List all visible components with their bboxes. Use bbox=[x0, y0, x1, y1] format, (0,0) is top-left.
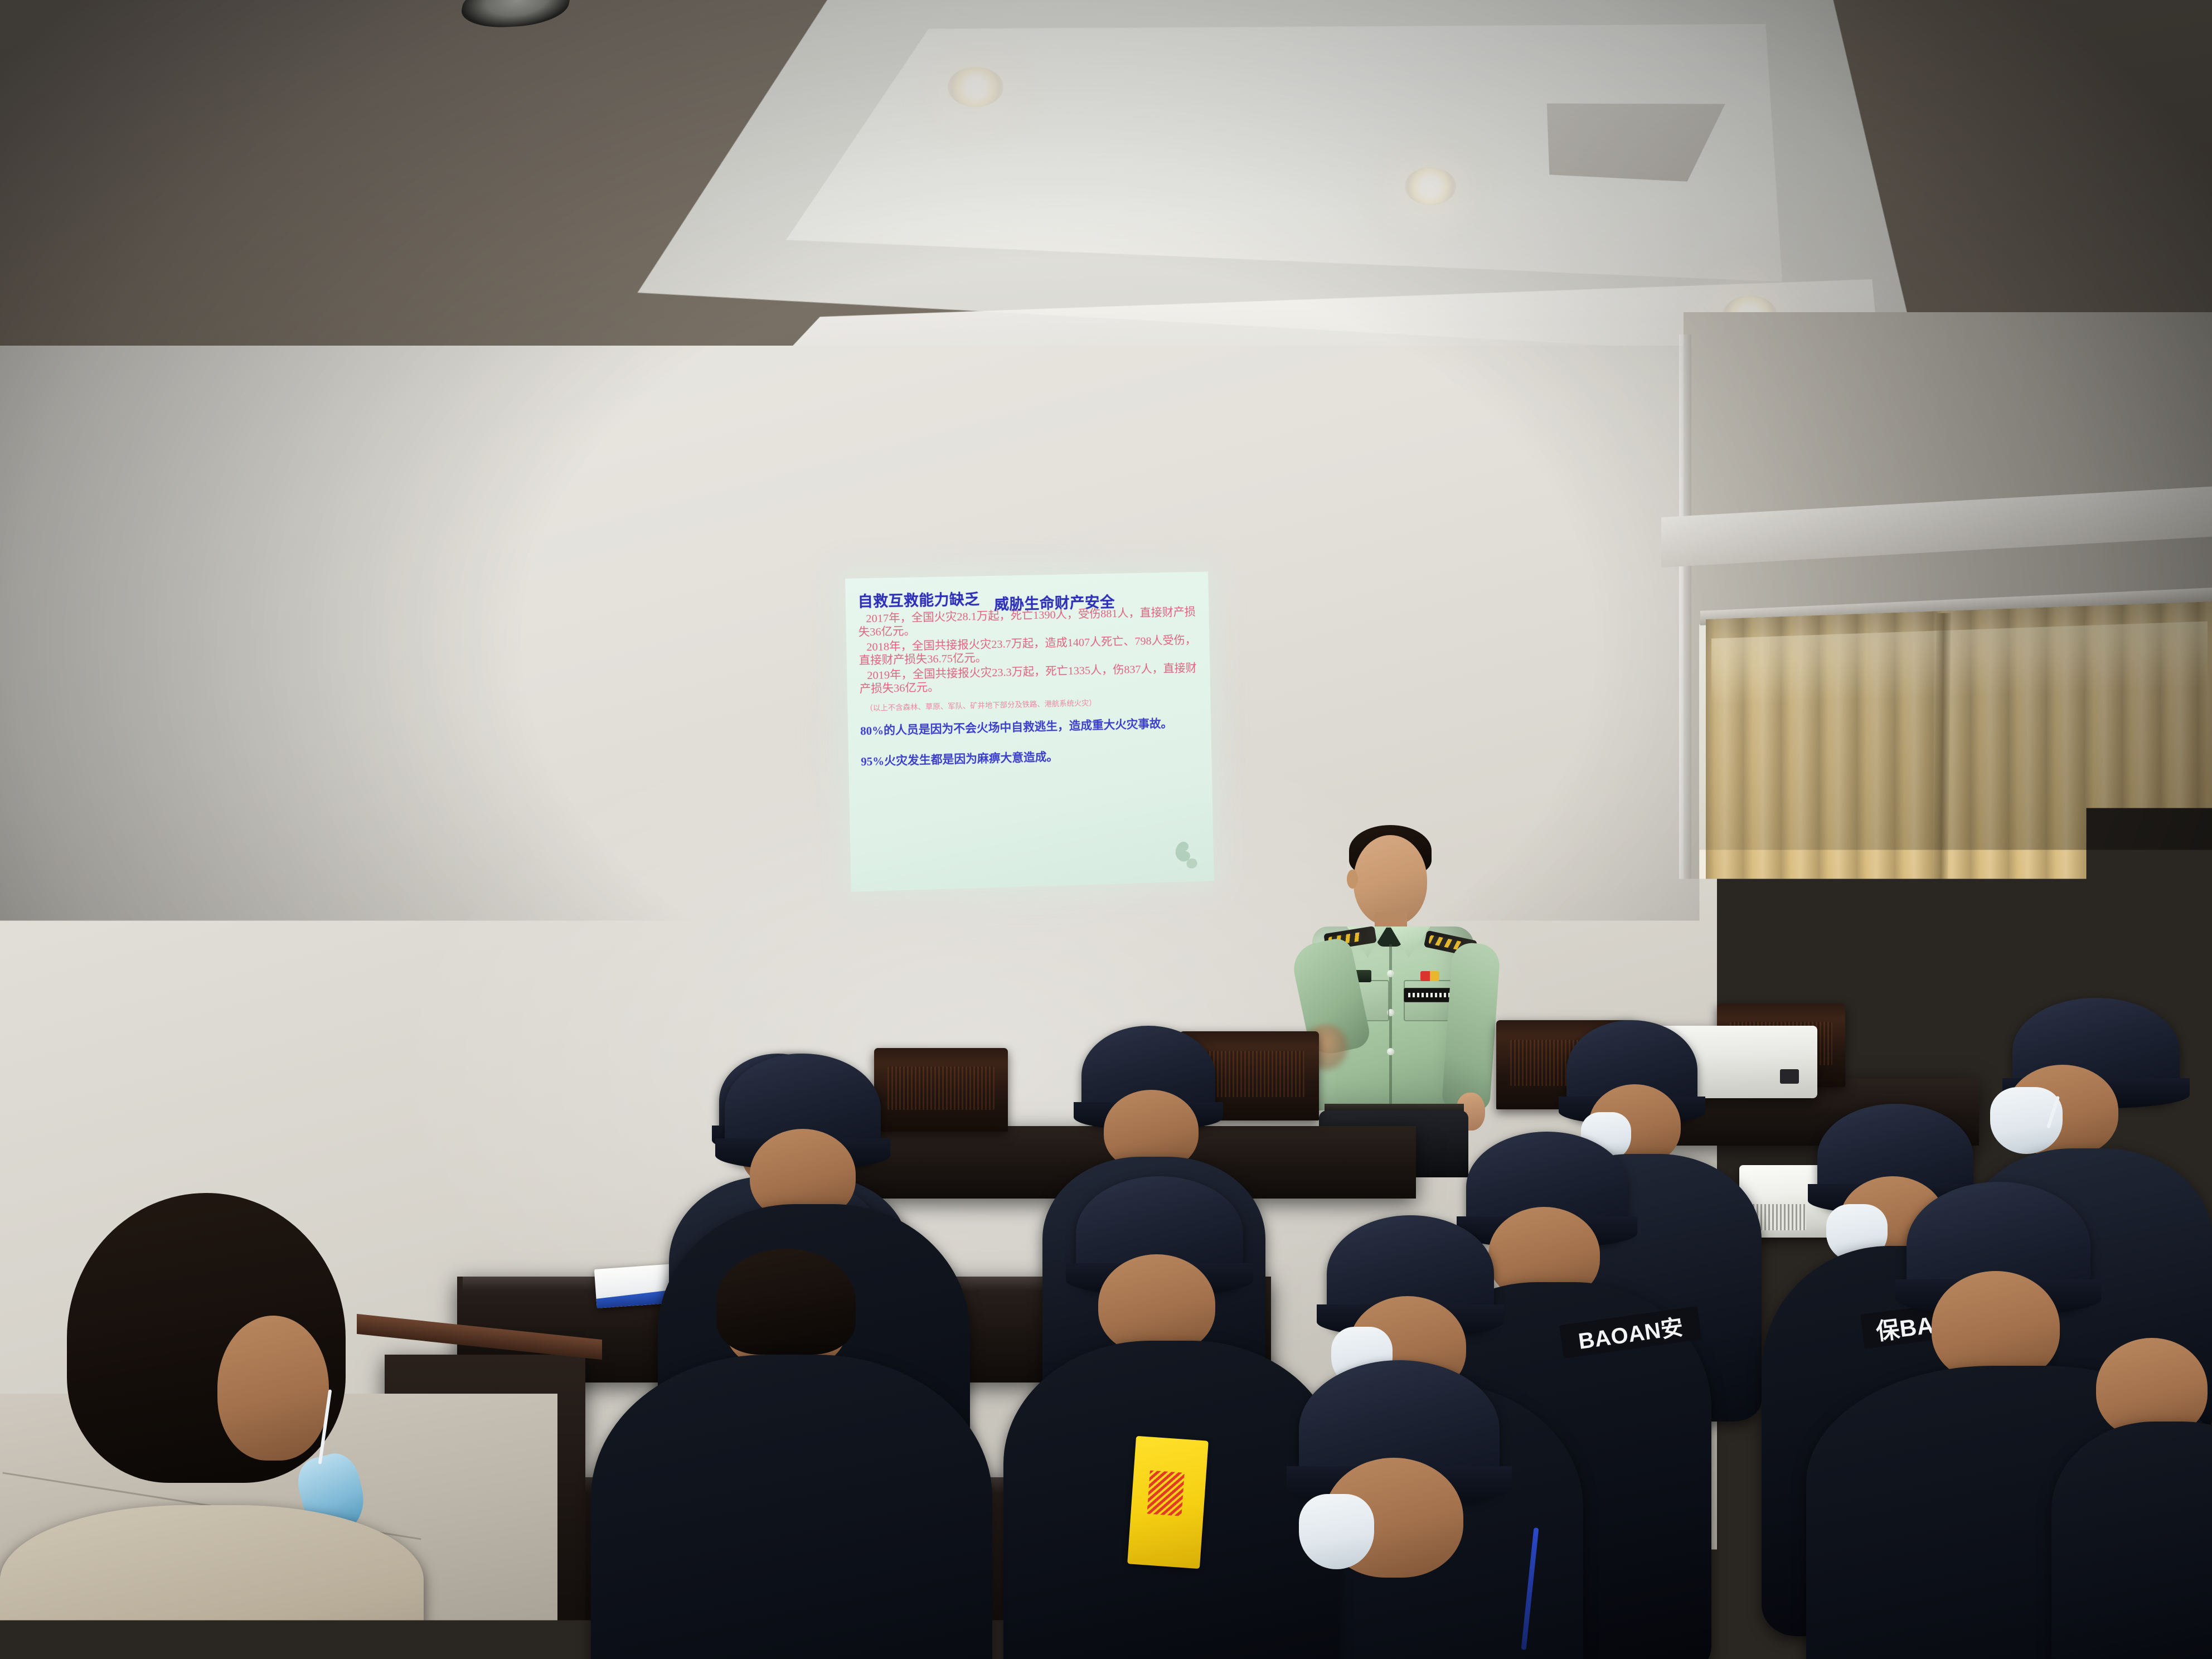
head bbox=[1098, 1254, 1215, 1355]
presenter-shirt-placket bbox=[1389, 944, 1392, 1106]
slide-highlight-95: 95%火灾发生都是因为麻痹大意造成。 bbox=[861, 746, 1202, 769]
projected-slide: 自救互救能力缺乏 威胁生命财产安全 2017年，全国火灾28.1万起，死亡139… bbox=[845, 571, 1214, 891]
ceiling-downlight-icon bbox=[1405, 167, 1456, 205]
slide-title-left: 自救互救能力缺乏 bbox=[857, 587, 979, 611]
presenter-ear bbox=[1347, 870, 1358, 889]
torso bbox=[0, 1505, 424, 1659]
yellow-armband bbox=[1127, 1436, 1209, 1569]
slide-stat-2019: 2019年，全国共接报火灾23.3万起，死亡1335人，伤837人，直接财产损失… bbox=[859, 662, 1200, 697]
torso bbox=[2051, 1422, 2212, 1659]
torso bbox=[591, 1355, 992, 1659]
head bbox=[217, 1316, 329, 1461]
face-mask bbox=[1299, 1494, 1374, 1569]
ceiling-downlight-icon bbox=[948, 67, 1003, 107]
presenter-shirt-button bbox=[1387, 1048, 1394, 1055]
chair-back bbox=[874, 1048, 1008, 1132]
meeting-room-photo: 自救互救能力缺乏 威胁生命财产安全 2017年，全国火灾28.1万起，死亡139… bbox=[0, 0, 2212, 1659]
slide-title-right: 威胁生命财产安全 bbox=[994, 590, 1115, 614]
hair bbox=[716, 1249, 856, 1355]
presenter-flag-badge-icon bbox=[1420, 971, 1439, 981]
case-latch bbox=[1780, 1069, 1799, 1084]
presenter-shirt-button bbox=[1387, 970, 1394, 977]
slide-footnote: （以上不含森林、草原、军队、矿井地下部分及铁路、港航系统火灾） bbox=[860, 694, 1201, 713]
slide-watermark-icon bbox=[1168, 835, 1204, 875]
slide-highlight-80: 80%的人员是因为不会火场中自救逃生，造成重大火灾事故。 bbox=[860, 716, 1201, 738]
